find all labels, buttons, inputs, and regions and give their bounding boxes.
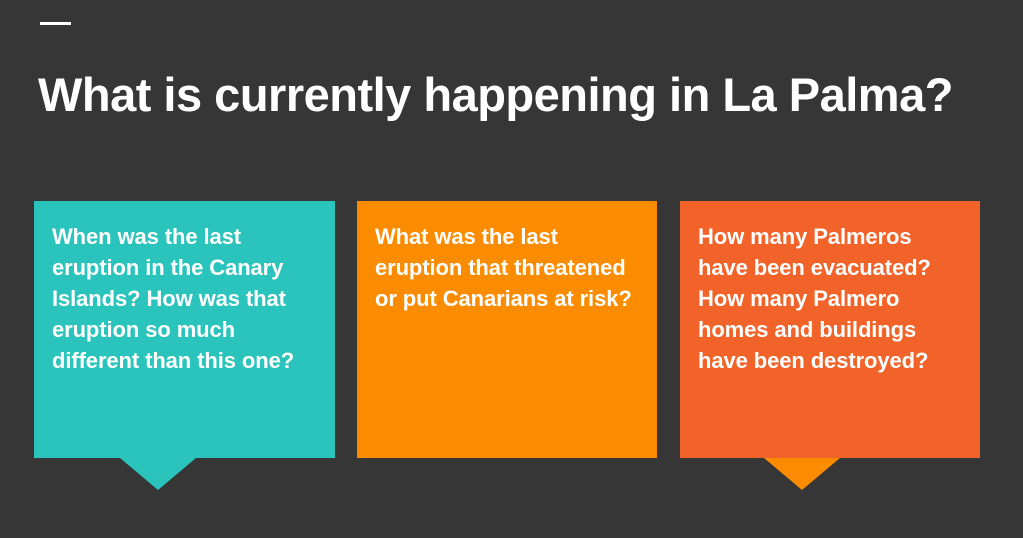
slide-canvas: What is currently happening in La Palma?… [0, 0, 1023, 538]
question-card-1-tail [120, 458, 196, 490]
question-card-2-body: What was the last eruption that threaten… [357, 201, 657, 458]
question-card-3-body: How many Palmeros have been evacuated? H… [680, 201, 980, 458]
question-card-1[interactable]: When was the last eruption in the Canary… [34, 201, 335, 458]
question-card-2[interactable]: What was the last eruption that threaten… [357, 201, 657, 458]
page-title: What is currently happening in La Palma? [38, 66, 988, 124]
question-card-row: When was the last eruption in the Canary… [0, 201, 1023, 501]
question-card-3[interactable]: How many Palmeros have been evacuated? H… [680, 201, 980, 458]
question-card-2-text: What was the last eruption that threaten… [375, 221, 643, 314]
accent-dash-decoration [40, 22, 71, 25]
question-card-2-tail [764, 458, 840, 490]
question-card-3-text: How many Palmeros have been evacuated? H… [698, 221, 966, 376]
question-card-1-text: When was the last eruption in the Canary… [52, 221, 321, 376]
question-card-1-body: When was the last eruption in the Canary… [34, 201, 335, 458]
